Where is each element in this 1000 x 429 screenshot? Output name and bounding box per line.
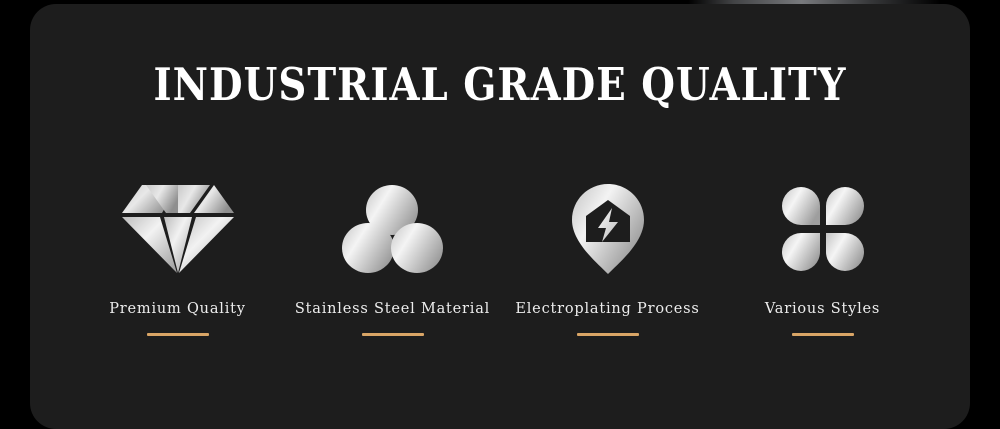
four-petal-icon (763, 179, 883, 279)
spheres-icon (333, 179, 453, 279)
page-title: INDUSTRIAL GRADE QUALITY (96, 59, 904, 111)
feature-label: Premium Quality (109, 301, 246, 317)
feature-banner: INDUSTRIAL GRADE QUALITY (0, 0, 1000, 421)
feature-list: Premium Quality (70, 179, 930, 336)
feature-card: INDUSTRIAL GRADE QUALITY (30, 4, 970, 429)
feature-item-stainless-steel-material: Stainless Steel Material (285, 179, 500, 336)
diamond-icon (118, 179, 238, 279)
feature-label: Various Styles (765, 301, 880, 317)
feature-accent-rule (792, 333, 854, 336)
feature-item-premium-quality: Premium Quality (70, 179, 285, 336)
feature-item-various-styles: Various Styles (715, 179, 930, 336)
feature-accent-rule (147, 333, 209, 336)
feature-accent-rule (577, 333, 639, 336)
feature-accent-rule (362, 333, 424, 336)
feature-label: Electroplating Process (515, 301, 699, 317)
feature-item-electroplating-process: Electroplating Process (500, 179, 715, 336)
location-pin-bolt-icon (548, 179, 668, 279)
feature-label: Stainless Steel Material (295, 301, 490, 317)
